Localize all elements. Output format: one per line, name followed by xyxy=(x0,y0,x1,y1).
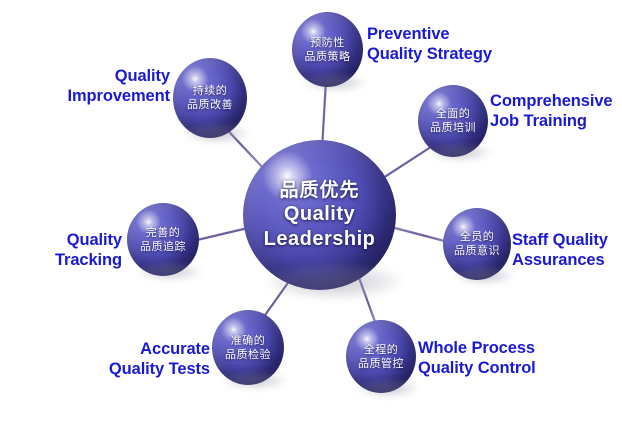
diagram-canvas: 品质优先 Quality Leadership 预防性 品质策略 Prevent… xyxy=(0,0,622,436)
node-cn-line1: 全程的 xyxy=(346,342,416,356)
label-line1: Quality xyxy=(0,66,170,86)
label-staff-quality-assurances: Staff Quality Assurances xyxy=(512,230,608,270)
label-line1: Preventive xyxy=(367,24,492,44)
label-line2: Improvement xyxy=(0,86,170,106)
node-quality-improvement-cn: 持续的 品质改善 xyxy=(173,84,247,112)
node-accurate-quality-tests-cn: 准确的 品质检验 xyxy=(212,333,284,361)
node-staff-quality-assurances-cn: 全员的 品质意识 xyxy=(443,230,511,258)
node-comprehensive-job-training[interactable]: 全面的 品质培训 xyxy=(418,85,488,157)
node-cn-line2: 品质改善 xyxy=(173,98,247,112)
node-cn-line2: 品质培训 xyxy=(418,121,488,135)
label-preventive-quality-strategy: Preventive Quality Strategy xyxy=(367,24,492,64)
node-whole-process-quality-control[interactable]: 全程的 品质管控 xyxy=(346,320,416,393)
node-cn-line1: 完善的 xyxy=(127,225,199,239)
node-quality-tracking-cn: 完善的 品质追踪 xyxy=(127,225,199,253)
label-line2: Quality Tests xyxy=(0,359,210,379)
label-whole-process-quality-control: Whole Process Quality Control xyxy=(418,338,536,378)
label-accurate-quality-tests: Accurate Quality Tests xyxy=(0,339,210,379)
label-line2: Assurances xyxy=(512,250,608,270)
label-line2: Tracking xyxy=(0,250,122,270)
label-line1: Whole Process xyxy=(418,338,536,358)
label-line1: Accurate xyxy=(0,339,210,359)
label-quality-improvement: Quality Improvement xyxy=(0,66,170,106)
node-cn-line2: 品质意识 xyxy=(443,244,511,258)
node-quality-improvement[interactable]: 持续的 品质改善 xyxy=(173,58,247,138)
label-line1: Quality xyxy=(0,230,122,250)
label-quality-tracking: Quality Tracking xyxy=(0,230,122,270)
node-staff-quality-assurances[interactable]: 全员的 品质意识 xyxy=(443,208,511,280)
node-cn-line1: 全员的 xyxy=(443,230,511,244)
node-cn-line1: 全面的 xyxy=(418,107,488,121)
center-node-en-line1: Quality xyxy=(243,202,396,226)
label-line1: Comprehensive xyxy=(490,91,613,111)
label-line1: Staff Quality xyxy=(512,230,608,250)
node-cn-line2: 品质策略 xyxy=(292,50,363,64)
center-node-en-line2: Leadership xyxy=(243,227,396,251)
node-quality-tracking[interactable]: 完善的 品质追踪 xyxy=(127,203,199,276)
center-node-quality-leadership[interactable]: 品质优先 Quality Leadership xyxy=(243,140,396,290)
node-whole-process-quality-control-cn: 全程的 品质管控 xyxy=(346,342,416,370)
node-cn-line2: 品质检验 xyxy=(212,348,284,362)
label-comprehensive-job-training: Comprehensive Job Training xyxy=(490,91,613,131)
node-cn-line1: 预防性 xyxy=(292,35,363,49)
node-cn-line2: 品质管控 xyxy=(346,357,416,371)
label-line2: Job Training xyxy=(490,111,613,131)
label-line2: Quality Strategy xyxy=(367,44,492,64)
node-cn-line2: 品质追踪 xyxy=(127,240,199,254)
node-cn-line1: 准确的 xyxy=(212,333,284,347)
node-preventive-quality-strategy[interactable]: 预防性 品质策略 xyxy=(292,12,363,87)
node-cn-line1: 持续的 xyxy=(173,84,247,98)
node-preventive-quality-strategy-cn: 预防性 品质策略 xyxy=(292,35,363,63)
label-line2: Quality Control xyxy=(418,358,536,378)
center-node-text: 品质优先 Quality Leadership xyxy=(243,179,396,251)
node-accurate-quality-tests[interactable]: 准确的 品质检验 xyxy=(212,310,284,385)
center-node-cn-title: 品质优先 xyxy=(243,179,396,202)
node-comprehensive-job-training-cn: 全面的 品质培训 xyxy=(418,107,488,135)
